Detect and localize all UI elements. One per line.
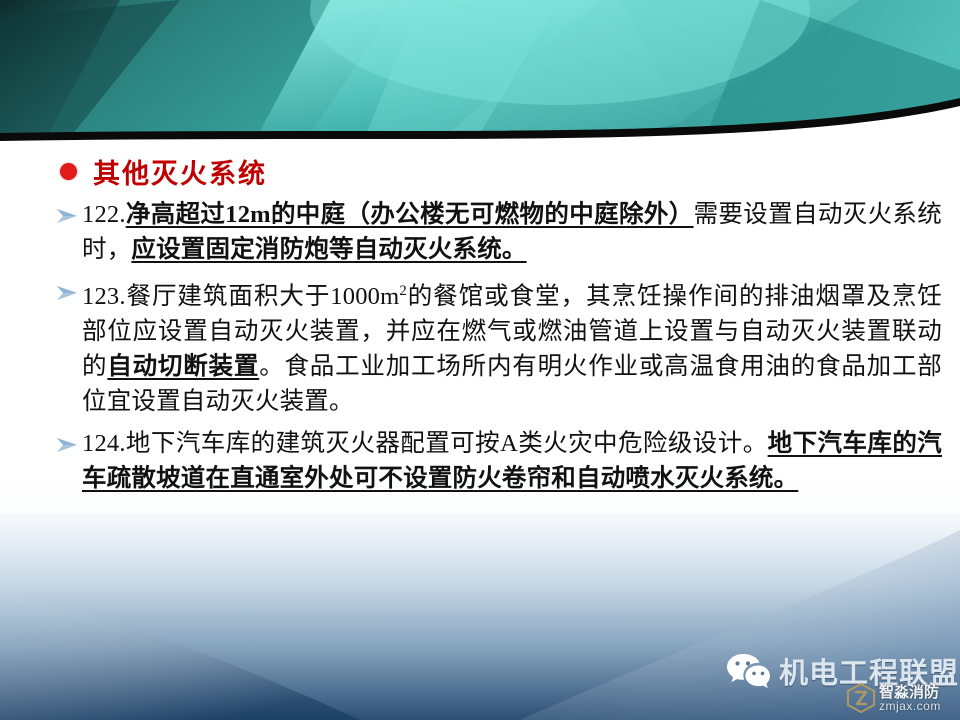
arrow-bullet-icon — [56, 274, 82, 302]
banner-graphic — [0, 0, 960, 150]
slide-content: 其他灭火系统 122.净高超过12m的中庭（办公楼无可燃物的中庭除外）需要设置自… — [0, 152, 960, 503]
zhimiao-logo-icon — [846, 683, 876, 713]
watermark-block: 智淼消防 zmjax.com — [846, 683, 941, 713]
red-dot-bullet-icon — [60, 163, 77, 180]
watermark-name: 智淼消防 — [879, 685, 941, 700]
wechat-icon — [726, 652, 770, 690]
item-part-superscript: 2 — [399, 283, 407, 299]
list-item: 122.净高超过12m的中庭（办公楼无可燃物的中庭除外）需要设置自动灭火系统时，… — [56, 197, 942, 267]
item-number: 122. — [82, 201, 126, 228]
item-part-emph: 应设置固定消防炮等自动灭火系统。 — [131, 236, 526, 263]
list-item-text: 124.地下汽车库的建筑灭火器配置可按A类火灾中危险级设计。地下汽车库的汽车疏散… — [82, 426, 942, 496]
page-title: 其他灭火系统 — [93, 152, 267, 191]
top-banner-decoration — [0, 0, 960, 150]
slide-canvas: 其他灭火系统 122.净高超过12m的中庭（办公楼无可燃物的中庭除外）需要设置自… — [0, 0, 960, 720]
arrow-bullet-icon — [56, 197, 82, 225]
item-number: 124. — [82, 430, 126, 457]
item-number: 123. — [82, 283, 126, 310]
arrow-bullet-icon — [56, 426, 82, 454]
item-part-emph: 净高超过12m的中庭（办公楼无可燃物的中庭除外） — [126, 201, 694, 228]
slide-heading-row: 其他灭火系统 — [60, 152, 960, 191]
list-item-text: 122.净高超过12m的中庭（办公楼无可燃物的中庭除外）需要设置自动灭火系统时，… — [82, 197, 942, 267]
list-item: 124.地下汽车库的建筑灭火器配置可按A类火灾中危险级设计。地下汽车库的汽车疏散… — [56, 426, 942, 496]
item-part-plain: 餐厅建筑面积大于1000m — [126, 283, 400, 310]
watermark-text-stack: 智淼消防 zmjax.com — [879, 685, 941, 712]
item-part-emph: 自动切断装置 — [107, 353, 259, 380]
watermark-url: zmjax.com — [879, 700, 941, 712]
bullet-list: 122.净高超过12m的中庭（办公楼无可燃物的中庭除外）需要设置自动灭火系统时，… — [0, 197, 960, 496]
list-item-text: 123.餐厅建筑面积大于1000m2的餐馆或食堂，其烹饪操作间的排油烟罩及烹饪部… — [82, 274, 942, 419]
item-part-plain: 地下汽车库的建筑灭火器配置可按A类火灾中危险级设计。 — [126, 430, 768, 457]
list-item: 123.餐厅建筑面积大于1000m2的餐馆或食堂，其烹饪操作间的排油烟罩及烹饪部… — [56, 274, 942, 419]
